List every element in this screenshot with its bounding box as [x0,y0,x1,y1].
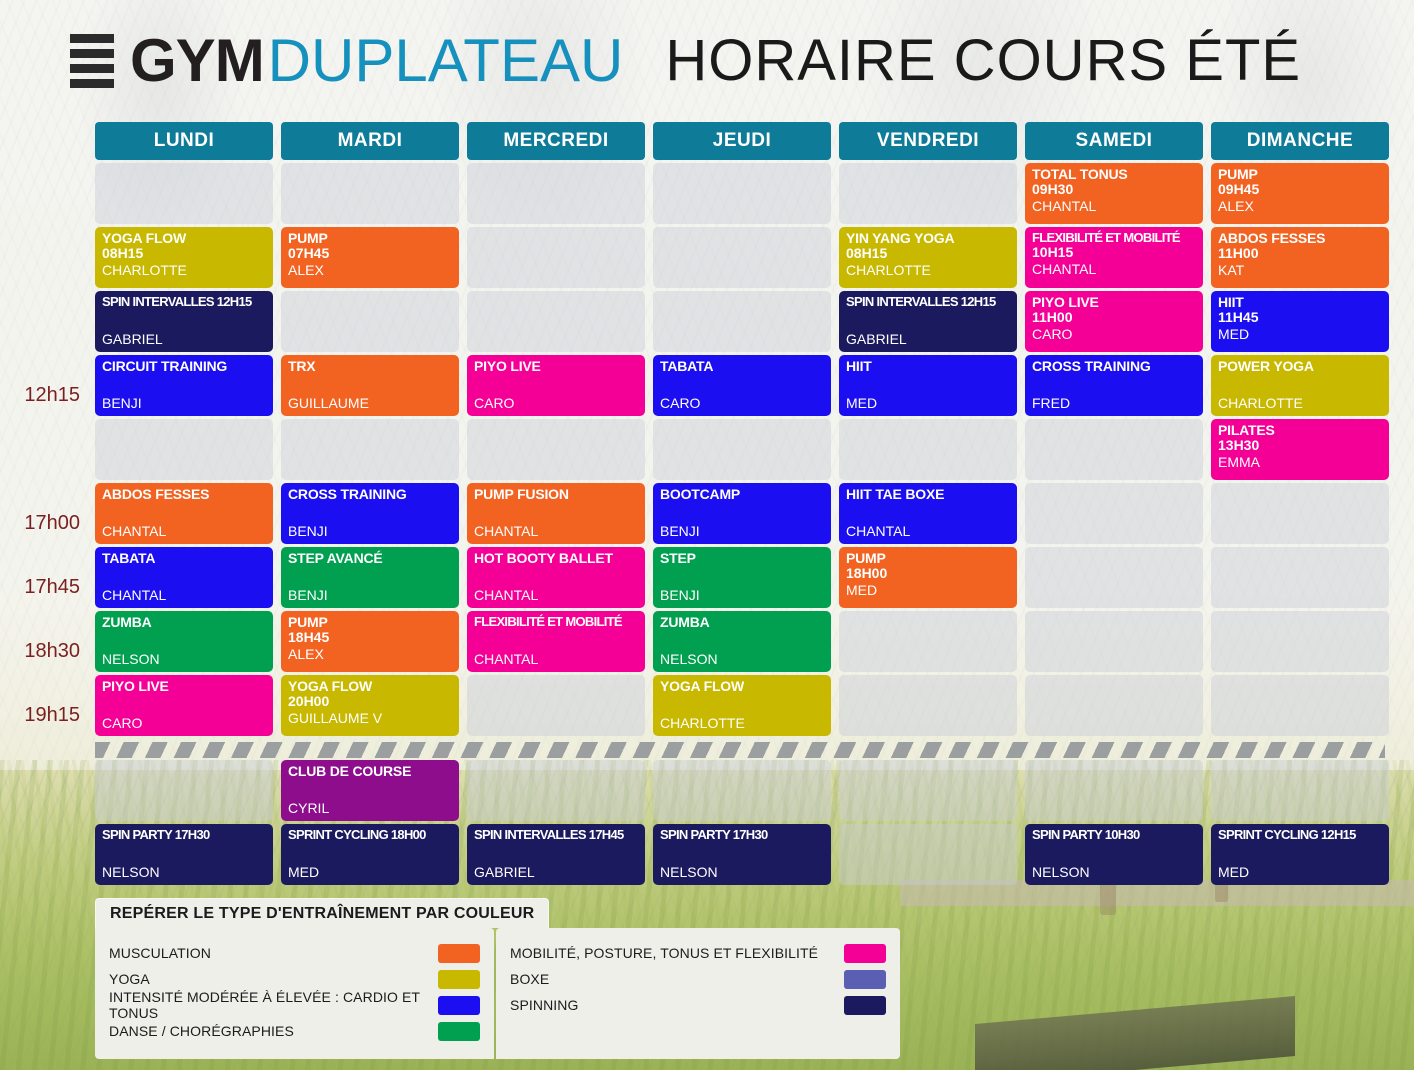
class-instructor: CYRIL [288,800,453,818]
day-header-dimanche[interactable]: DIMANCHE [1211,122,1389,160]
legend-title: REPÉRER LE TYPE D'ENTRAÎNEMENT PAR COULE… [95,898,549,928]
spinning-schedule-grid: SPIN PARTY 17H30NELSONCLUB DE COURSECYRI… [95,760,1385,885]
day-column-jeudi: JEUDITABATACAROBOOTCAMPBENJISTEPBENJIZUM… [653,122,831,736]
class-instructor: CHARLOTTE [102,262,267,278]
legend-row: DANSE / CHORÉGRAPHIES [109,1019,480,1043]
class-instructor: CHARLOTTE [660,715,825,733]
class-name: PILATES [1218,423,1383,438]
class-instructor: GUILLAUME V [288,710,453,726]
class-name: ZUMBA [660,615,825,630]
class-instructor: MED [1218,326,1383,342]
class-name: PUMP [288,231,453,246]
hamburger-icon [70,34,114,88]
background-park-bench [975,996,1295,1070]
class-time: 10H15 [1032,245,1197,261]
empty-slot [1025,760,1203,821]
class-card[interactable]: TABATACARO [653,355,831,416]
class-card[interactable]: YOGA FLOW08H15CHARLOTTE [95,227,273,288]
class-card[interactable]: PUMP09H45ALEX [1211,163,1389,224]
empty-slot [1211,611,1389,672]
class-instructor: EMMA [1218,454,1383,470]
class-time: 07H45 [288,246,453,262]
class-name: STEP [660,551,825,566]
empty-slot [1025,547,1203,608]
legend-row: MUSCULATION [109,941,480,965]
legend-color-swatch [438,970,480,989]
empty-slot [467,291,645,352]
class-name: SPIN PARTY 17H30 [660,828,825,842]
empty-slot [839,163,1017,224]
class-instructor: ALEX [288,262,453,278]
legend-label: SPINNING [510,997,578,1013]
empty-slot [839,675,1017,736]
class-instructor: GUILLAUME [288,395,453,413]
empty-slot [1025,675,1203,736]
empty-slot [95,163,273,224]
class-instructor: CHANTAL [1032,198,1197,214]
day-column-dimanche: DIMANCHEPUMP09H45ALEXABDOS FESSES11H00KA… [1211,122,1389,736]
empty-slot [653,419,831,480]
class-name: HIIT TAE BOXE [846,487,1011,502]
class-card[interactable]: CROSS TRAININGFRED [1025,355,1203,416]
day-header-vendredi[interactable]: VENDREDI [839,122,1017,160]
class-name: SPIN INTERVALLES 17H45 [474,828,639,842]
class-instructor: MED [1218,864,1383,882]
class-instructor: CARO [660,395,825,413]
class-time: 09H45 [1218,182,1383,198]
class-instructor: GABRIEL [102,331,267,349]
page-title: HORAIRE COURS ÉTÉ [665,32,1301,90]
class-card[interactable]: PIYO LIVE11H00CARO [1025,291,1203,352]
day-column-mercredi: MERCREDIPIYO LIVECAROPUMP FUSIONCHANTALH… [467,122,645,736]
empty-slot [839,760,1017,821]
class-instructor: ALEX [1218,198,1383,214]
class-card[interactable]: SPRINT CYCLING 12H15MED [1211,824,1389,885]
schedule-poster: GYM DUPLATEAU HORAIRE COURS ÉTÉ 12h1517h… [0,0,1414,1070]
legend-label: MUSCULATION [109,945,211,961]
class-name: ZUMBA [102,615,267,630]
empty-slot [1025,611,1203,672]
legend-label: INTENSITÉ MODÉRÉE À ÉLEVÉE : CARDIO ET T… [109,989,438,1021]
class-card[interactable]: YOGA FLOW20H00GUILLAUME V [281,675,459,736]
day-header-jeudi[interactable]: JEUDI [653,122,831,160]
class-instructor: CHARLOTTE [846,262,1011,278]
class-instructor: CHARLOTTE [1218,395,1383,413]
legend-color-swatch [438,944,480,963]
legend-label: BOXE [510,971,549,987]
class-instructor: BENJI [660,587,825,605]
class-name: SPRINT CYCLING 12H15 [1218,828,1383,842]
legend-label: MOBILITÉ, POSTURE, TONUS ET FLEXIBILITÉ [510,945,818,961]
class-instructor: BENJI [660,523,825,541]
class-instructor: CHANTAL [1032,261,1197,277]
class-name: ABDOS FESSES [1218,231,1383,246]
class-card[interactable]: TRXGUILLAUME [281,355,459,416]
empty-slot [467,419,645,480]
day-header-mercredi[interactable]: MERCREDI [467,122,645,160]
empty-slot [1211,760,1389,821]
empty-slot [839,824,1017,885]
class-name: YIN YANG YOGA [846,231,1011,246]
class-instructor: BENJI [102,395,267,413]
legend-row: MOBILITÉ, POSTURE, TONUS ET FLEXIBILITÉ [510,941,886,965]
time-label: 17h00 [24,512,80,535]
class-card[interactable]: HOT BOOTY BALLETCHANTAL [467,547,645,608]
class-card[interactable]: TOTAL TONUS09H30CHANTAL [1025,163,1203,224]
class-time: 18H45 [288,630,453,646]
class-card[interactable]: SPIN PARTY 17H30NELSON [95,824,273,885]
class-card[interactable]: ABDOS FESSES11H00KAT [1211,227,1389,288]
class-time: 20H00 [288,694,453,710]
class-instructor: MED [846,395,1011,413]
class-name: SPIN INTERVALLES 12H15 [102,295,267,309]
class-name: CROSS TRAINING [1032,359,1197,374]
legend-row: SPINNING [510,993,886,1017]
class-time: 18H00 [846,566,1011,582]
empty-slot [467,227,645,288]
legend: REPÉRER LE TYPE D'ENTRAÎNEMENT PAR COULE… [95,898,900,1059]
class-instructor: ALEX [288,646,453,662]
legend-row: YOGA [109,967,480,991]
class-name: STEP AVANCÉ [288,551,453,566]
class-card[interactable]: TABATACHANTAL [95,547,273,608]
empty-slot [281,291,459,352]
class-name: POWER YOGA [1218,359,1383,374]
class-instructor: CARO [1032,326,1197,342]
day-header-mardi[interactable]: MARDI [281,122,459,160]
class-card[interactable]: CIRCUIT TRAININGBENJI [95,355,273,416]
class-instructor: CHANTAL [846,523,1011,541]
class-time: 11H00 [1032,310,1197,326]
class-name: SPIN PARTY 10H30 [1032,828,1197,842]
spin-day-column-vendredi [839,760,1017,885]
class-name: PIYO LIVE [102,679,267,694]
class-instructor: NELSON [660,651,825,669]
class-card[interactable]: YIN YANG YOGA08H15CHARLOTTE [839,227,1017,288]
class-instructor: CARO [474,395,639,413]
class-instructor: BENJI [288,587,453,605]
class-name: BOOTCAMP [660,487,825,502]
class-name: SPRINT CYCLING 18H00 [288,828,453,842]
legend-color-swatch [438,996,480,1015]
spin-day-column-lundi: SPIN PARTY 17H30NELSON [95,760,273,885]
class-name: SPIN PARTY 17H30 [102,828,267,842]
class-instructor: CHANTAL [474,587,639,605]
class-card[interactable]: SPIN INTERVALLES 12H15GABRIEL [839,291,1017,352]
empty-slot [1025,483,1203,544]
brand-logo: GYM DUPLATEAU [70,31,623,91]
class-time: 08H15 [846,246,1011,262]
class-name: PUMP [846,551,1011,566]
spin-day-column-samedi: SPIN PARTY 10H30NELSON [1025,760,1203,885]
class-name: TABATA [102,551,267,566]
empty-slot [467,675,645,736]
class-name: YOGA FLOW [660,679,825,694]
class-card[interactable]: HIITMED [839,355,1017,416]
class-name: TOTAL TONUS [1032,167,1197,182]
empty-slot [653,760,831,821]
legend-color-swatch [844,944,886,963]
spin-day-column-mercredi: SPIN INTERVALLES 17H45GABRIEL [467,760,645,885]
class-time: 11H45 [1218,310,1383,326]
spin-day-column-dimanche: SPRINT CYCLING 12H15MED [1211,760,1389,885]
empty-slot [281,419,459,480]
class-card[interactable]: STEPBENJI [653,547,831,608]
class-name: PIYO LIVE [474,359,639,374]
class-instructor: NELSON [660,864,825,882]
class-name: CIRCUIT TRAINING [102,359,267,374]
class-name: PUMP FUSION [474,487,639,502]
empty-slot [467,163,645,224]
class-card[interactable]: ABDOS FESSESCHANTAL [95,483,273,544]
class-name: HIIT [846,359,1011,374]
empty-slot [653,291,831,352]
class-card[interactable]: PIYO LIVECARO [467,355,645,416]
class-instructor: GABRIEL [846,331,1011,349]
class-instructor: MED [846,582,1011,598]
class-card[interactable]: PUMP FUSIONCHANTAL [467,483,645,544]
class-card[interactable]: SPRINT CYCLING 18H00MED [281,824,459,885]
class-name: HOT BOOTY BALLET [474,551,639,566]
class-name: PIYO LIVE [1032,295,1197,310]
poster-header: GYM DUPLATEAU HORAIRE COURS ÉTÉ [0,18,1414,104]
empty-slot [839,611,1017,672]
empty-slot [95,760,273,821]
class-instructor: MED [288,864,453,882]
class-card[interactable]: ZUMBANELSON [653,611,831,672]
spin-day-column-mardi: CLUB DE COURSECYRILSPRINT CYCLING 18H00M… [281,760,459,885]
day-column-mardi: MARDIPUMP07H45ALEXTRXGUILLAUMECROSS TRAI… [281,122,459,736]
class-instructor: KAT [1218,262,1383,278]
class-instructor: CHANTAL [474,523,639,541]
class-name: TRX [288,359,453,374]
class-instructor: GABRIEL [474,864,639,882]
class-name: FLEXIBILITÉ ET MOBILITÉ [474,615,639,629]
class-card[interactable]: FLEXIBILITÉ ET MOBILITÉ10H15CHANTAL [1025,227,1203,288]
legend-label: DANSE / CHORÉGRAPHIES [109,1023,294,1039]
legend-label: YOGA [109,971,150,987]
spin-day-column-jeudi: SPIN PARTY 17H30NELSON [653,760,831,885]
class-card[interactable]: CROSS TRAININGBENJI [281,483,459,544]
class-card[interactable]: CLUB DE COURSECYRIL [281,760,459,821]
legend-column-left: MUSCULATIONYOGAINTENSITÉ MODÉRÉE À ÉLEVÉ… [95,928,494,1059]
class-card[interactable]: SPIN INTERVALLES 12H15GABRIEL [95,291,273,352]
empty-slot [281,163,459,224]
class-card[interactable]: PUMP18H00MED [839,547,1017,608]
class-name: YOGA FLOW [288,679,453,694]
empty-slot [1211,675,1389,736]
class-name: SPIN INTERVALLES 12H15 [846,295,1011,309]
class-time: 09H30 [1032,182,1197,198]
class-time: 08H15 [102,246,267,262]
time-label: 19h15 [24,704,80,727]
time-label: 12h15 [24,384,80,407]
legend-color-swatch [438,1022,480,1041]
class-instructor: CHANTAL [102,587,267,605]
empty-slot [1211,547,1389,608]
class-card[interactable]: PIYO LIVECARO [95,675,273,736]
class-name: TABATA [660,359,825,374]
legend-body: MUSCULATIONYOGAINTENSITÉ MODÉRÉE À ÉLEVÉ… [95,928,900,1059]
class-card[interactable]: SPIN PARTY 17H30NELSON [653,824,831,885]
class-card[interactable]: STEP AVANCÉBENJI [281,547,459,608]
class-name: FLEXIBILITÉ ET MOBILITÉ [1032,231,1197,245]
class-instructor: CHANTAL [474,651,639,669]
day-header-lundi[interactable]: LUNDI [95,122,273,160]
spinning-section-divider [95,742,1385,758]
class-time: 11H00 [1218,246,1383,262]
empty-slot [653,227,831,288]
legend-row: INTENSITÉ MODÉRÉE À ÉLEVÉE : CARDIO ET T… [109,993,480,1017]
class-name: YOGA FLOW [102,231,267,246]
class-instructor: NELSON [1032,864,1197,882]
empty-slot [653,163,831,224]
empty-slot [839,419,1017,480]
class-card[interactable]: BOOTCAMPBENJI [653,483,831,544]
empty-slot [467,760,645,821]
class-card[interactable]: PUMP07H45ALEX [281,227,459,288]
brand-name-gym: GYM [130,31,264,91]
class-name: HIIT [1218,295,1383,310]
class-name: CROSS TRAINING [288,487,453,502]
class-card[interactable]: SPIN PARTY 10H30NELSON [1025,824,1203,885]
class-time: 13H30 [1218,438,1383,454]
class-name: PUMP [288,615,453,630]
class-card[interactable]: YOGA FLOWCHARLOTTE [653,675,831,736]
schedule-grid: LUNDIYOGA FLOW08H15CHARLOTTESPIN INTERVA… [95,122,1385,736]
empty-slot [95,419,273,480]
time-label: 17h45 [24,576,80,599]
legend-color-swatch [844,970,886,989]
class-name: ABDOS FESSES [102,487,267,502]
legend-row: BOXE [510,967,886,991]
class-instructor: NELSON [102,864,267,882]
class-card[interactable]: HIIT11H45MED [1211,291,1389,352]
class-instructor: NELSON [102,651,267,669]
empty-slot [1211,483,1389,544]
class-card[interactable]: HIIT TAE BOXECHANTAL [839,483,1017,544]
class-instructor: CHANTAL [102,523,267,541]
day-column-lundi: LUNDIYOGA FLOW08H15CHARLOTTESPIN INTERVA… [95,122,273,736]
class-card[interactable]: FLEXIBILITÉ ET MOBILITÉCHANTAL [467,611,645,672]
brand-name-duplateau: DUPLATEAU [268,31,624,91]
class-card[interactable]: PILATES13H30EMMA [1211,419,1389,480]
legend-color-swatch [844,996,886,1015]
empty-slot [1025,419,1203,480]
class-instructor: FRED [1032,395,1197,413]
day-header-samedi[interactable]: SAMEDI [1025,122,1203,160]
legend-column-right: MOBILITÉ, POSTURE, TONUS ET FLEXIBILITÉB… [496,928,900,1059]
class-instructor: BENJI [288,523,453,541]
class-instructor: CARO [102,715,267,733]
class-name: CLUB DE COURSE [288,764,453,779]
day-column-samedi: SAMEDITOTAL TONUS09H30CHANTALFLEXIBILITÉ… [1025,122,1203,736]
time-label: 18h30 [24,640,80,663]
class-name: PUMP [1218,167,1383,182]
class-card[interactable]: SPIN INTERVALLES 17H45GABRIEL [467,824,645,885]
day-column-vendredi: VENDREDIYIN YANG YOGA08H15CHARLOTTESPIN … [839,122,1017,736]
class-card[interactable]: ZUMBANELSON [95,611,273,672]
class-card[interactable]: POWER YOGACHARLOTTE [1211,355,1389,416]
class-card[interactable]: PUMP18H45ALEX [281,611,459,672]
